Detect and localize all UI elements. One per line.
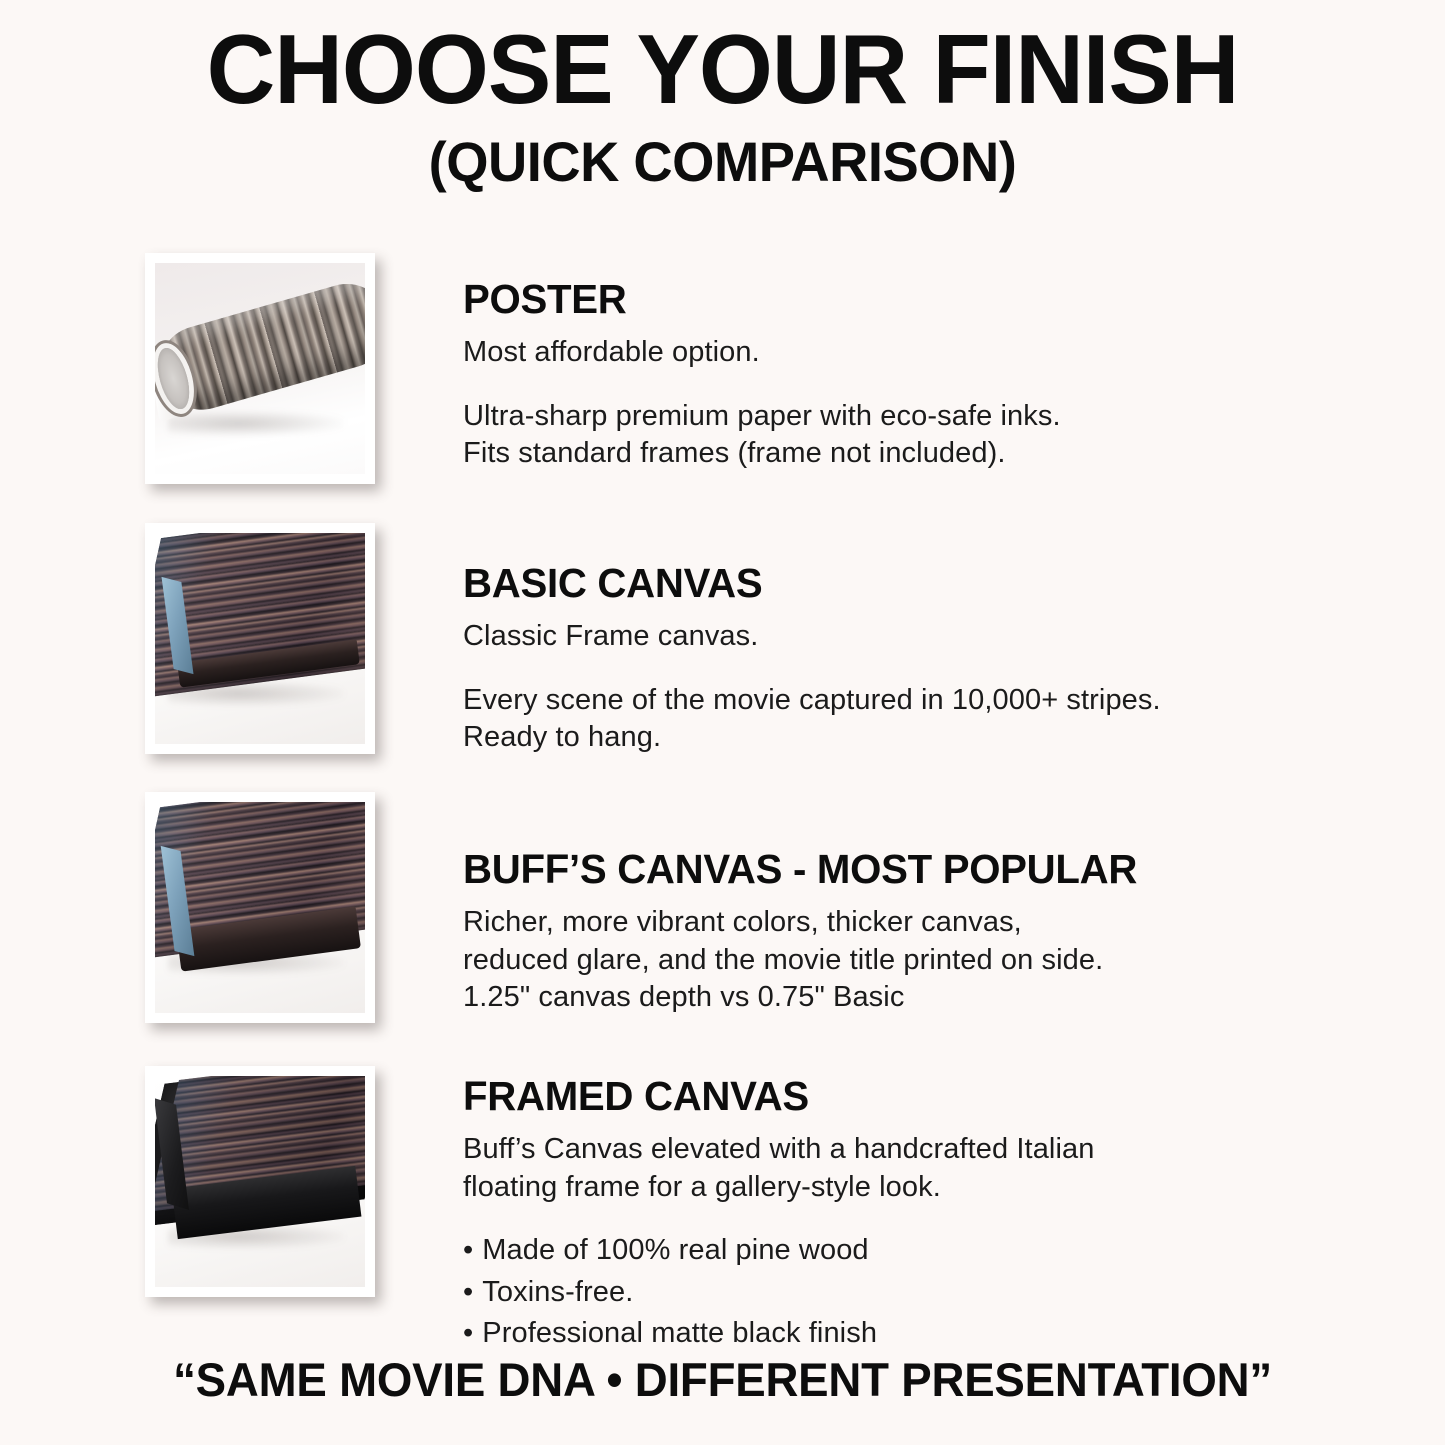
bullet-dot-icon: •: [463, 1276, 473, 1308]
footer-tagline: “SAME MOVIE DNA • DIFFERENT PRESENTATION…: [22, 1352, 1424, 1407]
rolled-poster-photo: [145, 253, 375, 484]
page-header: CHOOSE YOUR FINISH (QUICK COMPARISON): [0, 0, 1445, 192]
bullet-text: Made of 100% real pine wood: [482, 1234, 868, 1266]
list-item: FRAMED CANVAS Buff’s Canvas elevated wit…: [0, 1066, 1445, 1306]
bullet-text: Professional matte black finish: [482, 1317, 877, 1349]
framed-canvas-photo: [145, 1066, 375, 1297]
option-title: FRAMED CANVAS: [463, 1074, 1325, 1119]
list-item: BUFF’S CANVAS - MOST POPULAR Richer, mor…: [0, 792, 1445, 1032]
bullet-item: •Made of 100% real pine wood: [463, 1230, 1343, 1271]
framed-canvas-scene: [155, 1076, 365, 1287]
option-title: POSTER: [463, 277, 1325, 322]
bullet-dot-icon: •: [463, 1317, 473, 1349]
photo-inner: [155, 802, 365, 1013]
option-paragraph: Classic Frame canvas.: [463, 618, 1343, 656]
basic-canvas-scene: [155, 533, 365, 744]
option-text-framed-canvas: FRAMED CANVAS Buff’s Canvas elevated wit…: [463, 1074, 1343, 1354]
option-paragraph: Buff’s Canvas elevated with a handcrafte…: [463, 1131, 1343, 1206]
option-paragraph: Richer, more vibrant colors, thicker can…: [463, 904, 1343, 1017]
list-item: BASIC CANVAS Classic Frame canvas. Every…: [0, 523, 1445, 763]
option-paragraph: Ultra-sharp premium paper with eco-safe …: [463, 398, 1343, 473]
photo-inner: [155, 1076, 365, 1287]
option-text-poster: POSTER Most affordable option. Ultra-sha…: [463, 277, 1343, 473]
bullet-item: •Professional matte black finish: [463, 1313, 1343, 1354]
bullet-item: •Toxins-free.: [463, 1272, 1343, 1313]
option-text-buffs-canvas: BUFF’S CANVAS - MOST POPULAR Richer, mor…: [463, 847, 1343, 1017]
photo-inner: [155, 263, 365, 474]
buffs-canvas-photo: [145, 792, 375, 1023]
poster-shadow: [168, 411, 344, 436]
bullet-dot-icon: •: [463, 1234, 473, 1266]
option-bullet-list: •Made of 100% real pine wood •Toxins-fre…: [463, 1230, 1343, 1354]
bullet-text: Toxins-free.: [482, 1276, 633, 1308]
option-paragraph: Every scene of the movie captured in 10,…: [463, 682, 1343, 757]
page-subtitle: (QUICK COMPARISON): [22, 131, 1424, 193]
poster-scene: [155, 263, 365, 474]
list-item: POSTER Most affordable option. Ultra-sha…: [0, 253, 1445, 493]
option-title: BUFF’S CANVAS - MOST POPULAR: [463, 847, 1325, 892]
buffs-canvas-scene: [155, 802, 365, 1013]
option-paragraph: Most affordable option.: [463, 334, 1343, 372]
basic-canvas-photo: [145, 523, 375, 754]
option-title: BASIC CANVAS: [463, 561, 1325, 606]
footer: “SAME MOVIE DNA • DIFFERENT PRESENTATION…: [0, 1352, 1445, 1407]
option-text-basic-canvas: BASIC CANVAS Classic Frame canvas. Every…: [463, 561, 1343, 757]
page-title: CHOOSE YOUR FINISH: [22, 18, 1424, 121]
photo-inner: [155, 533, 365, 744]
